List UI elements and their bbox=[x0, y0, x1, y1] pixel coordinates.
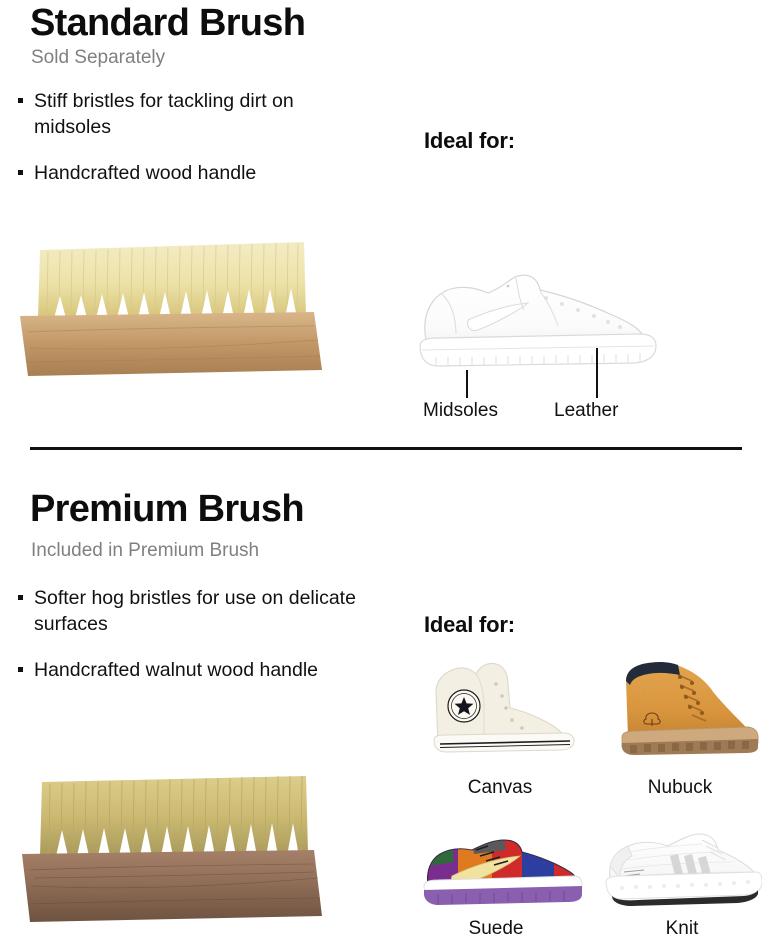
standard-ideal-for-heading: Ideal for: bbox=[424, 128, 515, 154]
timberland-boot-image bbox=[600, 641, 760, 761]
section-divider bbox=[30, 447, 742, 450]
adidas-ultraboost-image bbox=[598, 826, 762, 914]
standard-brush-title: Standard Brush bbox=[30, 4, 305, 42]
list-item-text: Handcrafted walnut wood handle bbox=[34, 659, 318, 681]
list-item: Stiff bristles for tackling dirt on mids… bbox=[14, 88, 374, 140]
product-comparison-infographic: Standard Brush Sold Separately Stiff bri… bbox=[0, 0, 763, 942]
standard-brush-feature-list: Stiff bristles for tackling dirt on mids… bbox=[14, 88, 374, 206]
list-item: Softer hog bristles for use on delicate … bbox=[14, 585, 374, 637]
premium-ideal-for-heading: Ideal for: bbox=[424, 612, 515, 638]
premium-brush-feature-list: Softer hog bristles for use on delicate … bbox=[14, 585, 374, 703]
bullet-square-icon bbox=[18, 170, 23, 175]
standard-brush-image bbox=[14, 236, 328, 388]
converse-chuck-taylor-image bbox=[418, 648, 582, 760]
list-item-text: Handcrafted wood handle bbox=[34, 162, 256, 184]
callout-label-midsoles: Midsoles bbox=[423, 400, 498, 422]
list-item: Handcrafted walnut wood handle bbox=[14, 657, 374, 683]
premium-brush-image bbox=[14, 766, 328, 934]
bullet-square-icon bbox=[18, 98, 23, 103]
bullet-square-icon bbox=[18, 595, 23, 600]
list-item-text: Softer hog bristles for use on delicate … bbox=[34, 587, 356, 635]
leather-callout-line bbox=[596, 348, 598, 398]
material-label-knit: Knit bbox=[602, 918, 762, 940]
midsoles-callout-line bbox=[466, 370, 468, 398]
material-label-suede: Suede bbox=[416, 918, 576, 940]
nike-air-force-1-white-image bbox=[412, 262, 662, 380]
premium-brush-title: Premium Brush bbox=[30, 490, 304, 528]
list-item-text: Stiff bristles for tackling dirt on mids… bbox=[34, 90, 294, 138]
list-item: Handcrafted wood handle bbox=[14, 160, 374, 186]
callout-label-leather: Leather bbox=[554, 400, 618, 422]
material-label-nubuck: Nubuck bbox=[600, 777, 760, 799]
material-label-canvas: Canvas bbox=[420, 777, 580, 799]
premium-brush-subtitle: Included in Premium Brush bbox=[31, 541, 259, 560]
bullet-square-icon bbox=[18, 667, 23, 672]
nike-dunk-low-image bbox=[418, 832, 584, 914]
standard-brush-subtitle: Sold Separately bbox=[31, 48, 165, 67]
